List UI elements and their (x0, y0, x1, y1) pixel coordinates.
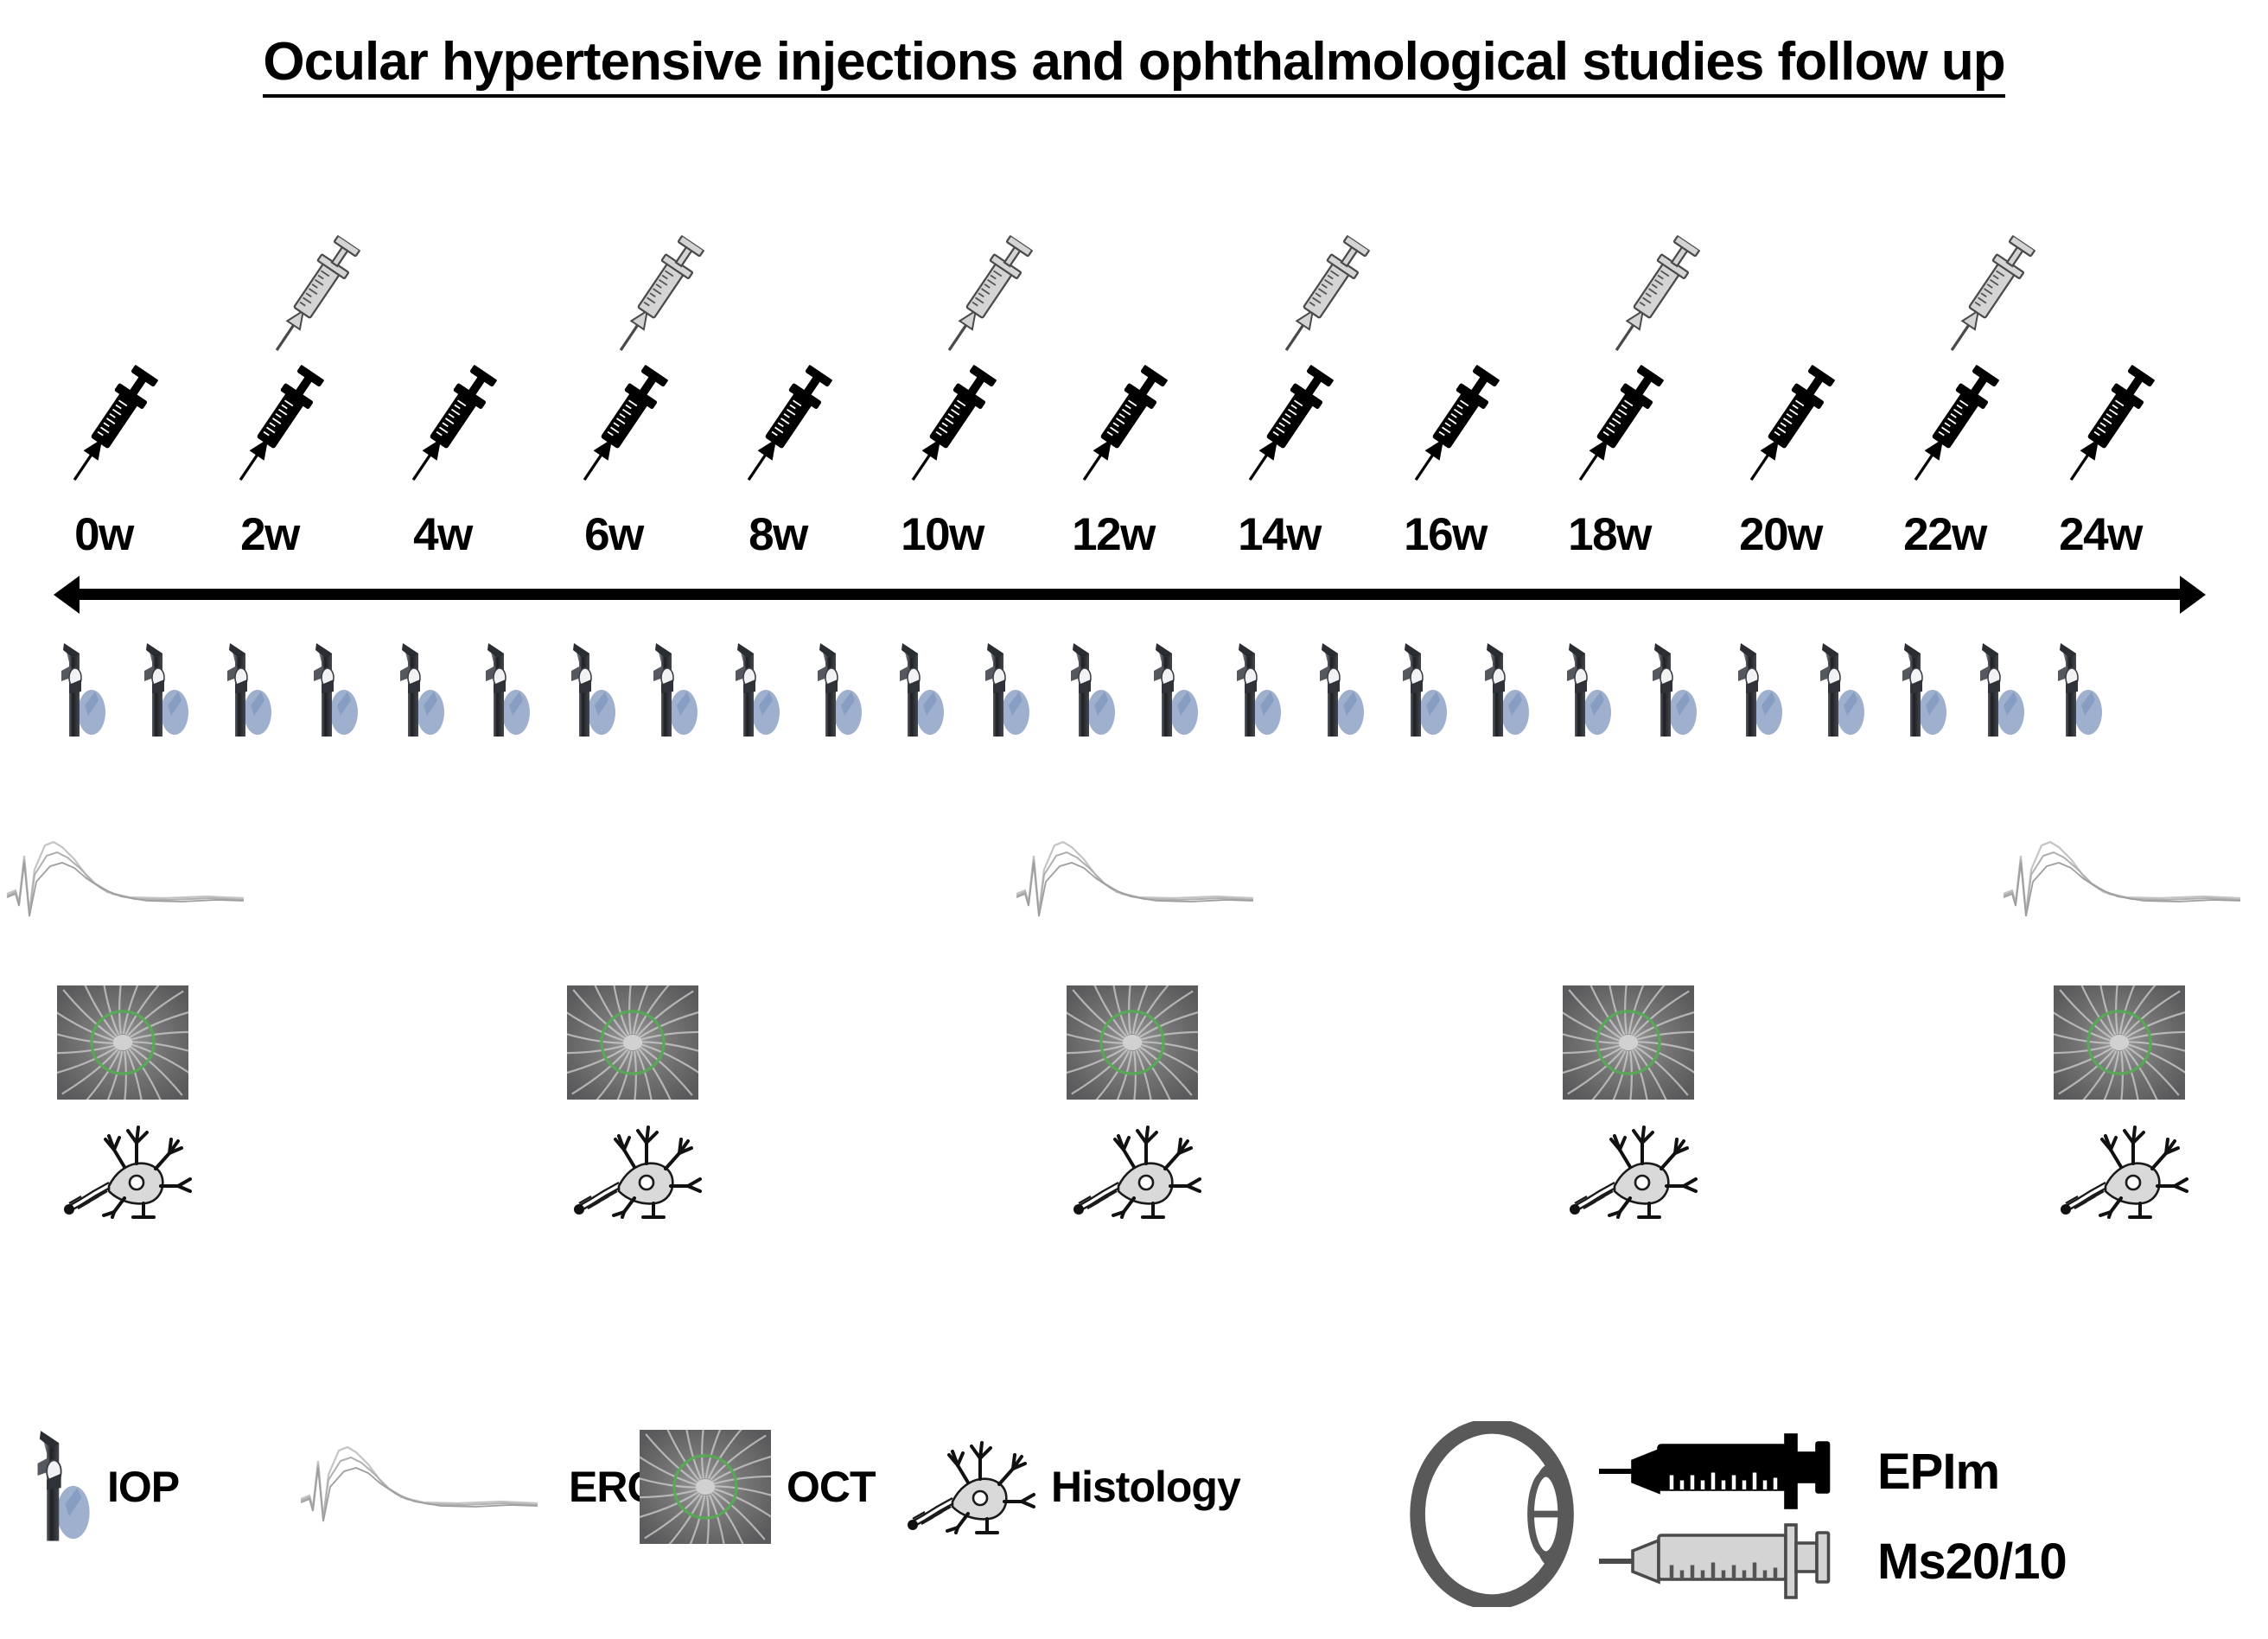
week-label-8w: 8w (749, 508, 807, 561)
gray-syringe-icon (1934, 230, 2043, 362)
black-syringe-icon (1562, 360, 1672, 492)
oct-fundus-icon (567, 985, 698, 1100)
week-label-6w: 6w (584, 508, 643, 561)
gray-syringe-icon (602, 230, 712, 362)
tonometer-icon (1900, 640, 1948, 742)
black-syringe-icon (566, 360, 676, 492)
legend-item-iop: IOP (35, 1400, 179, 1573)
week-label-18w: 18w (1568, 508, 1651, 561)
neuron-icon (908, 1439, 1035, 1534)
neuron-icon (2061, 1124, 2188, 1219)
tonometer-icon (733, 640, 781, 742)
black-syringe-icon (1897, 360, 2007, 492)
axis-arrowhead-right-icon (2180, 576, 2206, 614)
eye-cross-section-icon (1409, 1421, 1582, 1607)
gray-syringe-icon (1268, 230, 1378, 362)
tonometer-icon (1650, 640, 1698, 742)
legend-injection-label-0: EPIm (1877, 1443, 1999, 1501)
tonometer-icon (815, 640, 863, 742)
neuron-icon (64, 1124, 192, 1219)
black-syringe-icon (222, 360, 332, 492)
tonometer-icon (651, 640, 699, 742)
gray-syringe-icon (1598, 230, 1708, 362)
legend-injection-ms20-10: Ms20/10 (1599, 1521, 2067, 1601)
oct-fundus-icon (1563, 985, 1694, 1100)
week-label-20w: 20w (1739, 508, 1822, 561)
erg-trace-icon (1010, 830, 1269, 934)
oct-fundus-icon (2054, 985, 2185, 1100)
neuron-icon (1073, 1124, 1201, 1219)
black-syringe-icon (1733, 360, 1843, 492)
black-syringe-icon (2053, 360, 2163, 492)
week-label-24w: 24w (2059, 508, 2142, 561)
legend-modalities: IOPERGOCTHistology (35, 1400, 1366, 1573)
black-syringe-icon (395, 360, 505, 492)
tonometer-icon (2055, 640, 2104, 742)
timeline-axis (54, 576, 2206, 614)
week-label-0w: 0w (74, 508, 133, 561)
black-syringe-icon (1066, 360, 1175, 492)
tonometer-icon (1234, 640, 1283, 742)
figure-title: Ocular hypertensive injections and ophth… (0, 31, 2268, 92)
erg-trace-icon (1997, 830, 2256, 934)
legend-injections: EPImMs20/10 (1409, 1416, 2239, 1615)
gray-syringe-icon (258, 230, 368, 362)
black-syringe-icon (895, 360, 1004, 492)
tonometer-icon (1564, 640, 1613, 742)
erg-trace-icon (0, 830, 259, 934)
tonometer-icon (1068, 640, 1117, 742)
legend-label-histology: Histology (1051, 1462, 1240, 1512)
neuron-icon (574, 1124, 702, 1219)
legend-label-iop: IOP (107, 1462, 179, 1512)
black-syringe-icon (56, 360, 166, 492)
legend-item-erg: ERG (294, 1400, 659, 1573)
tonometer-icon (1736, 640, 1784, 742)
tonometer-icon (35, 1426, 92, 1547)
week-label-16w: 16w (1404, 508, 1487, 561)
week-label-10w: 10w (901, 508, 984, 561)
figure-title-text: Ocular hypertensive injections and ophth… (263, 32, 2004, 98)
tonometer-icon (1317, 640, 1366, 742)
tonometer-icon (1151, 640, 1200, 742)
week-label-4w: 4w (413, 508, 472, 561)
week-label-14w: 14w (1238, 508, 1321, 561)
legend-label-oct: OCT (787, 1462, 876, 1512)
tonometer-icon (1978, 640, 2026, 742)
gray-syringe-icon (931, 230, 1041, 362)
tonometer-icon (483, 640, 532, 742)
tonometer-icon (569, 640, 617, 742)
tonometer-icon (1818, 640, 1866, 742)
neuron-icon (1570, 1124, 1698, 1219)
figure-canvas: Ocular hypertensive injections and ophth… (0, 0, 2268, 1639)
legend-item-histology: Histology (908, 1400, 1240, 1573)
legend-injection-epim: EPIm (1599, 1432, 1999, 1511)
tonometer-icon (1482, 640, 1531, 742)
gray-syringe-icon (1599, 1521, 1858, 1601)
tonometer-icon (59, 640, 107, 742)
tonometer-icon (142, 640, 190, 742)
black-syringe-icon (1232, 360, 1341, 492)
black-syringe-icon (1599, 1432, 1858, 1511)
black-syringe-icon (1398, 360, 1507, 492)
tonometer-icon (225, 640, 273, 742)
oct-fundus-icon (1067, 985, 1198, 1100)
tonometer-icon (311, 640, 360, 742)
erg-trace-icon (294, 1435, 553, 1539)
legend-item-oct: OCT (640, 1400, 876, 1573)
tonometer-icon (1400, 640, 1449, 742)
legend-injection-label-1: Ms20/10 (1877, 1533, 2067, 1591)
tonometer-icon (983, 640, 1031, 742)
week-label-12w: 12w (1072, 508, 1155, 561)
axis-line (76, 589, 2183, 600)
week-label-22w: 22w (1903, 508, 1986, 561)
oct-fundus-icon (640, 1430, 771, 1544)
tonometer-icon (398, 640, 446, 742)
black-syringe-icon (730, 360, 840, 492)
week-label-2w: 2w (240, 508, 299, 561)
oct-fundus-icon (57, 985, 188, 1100)
tonometer-icon (897, 640, 946, 742)
